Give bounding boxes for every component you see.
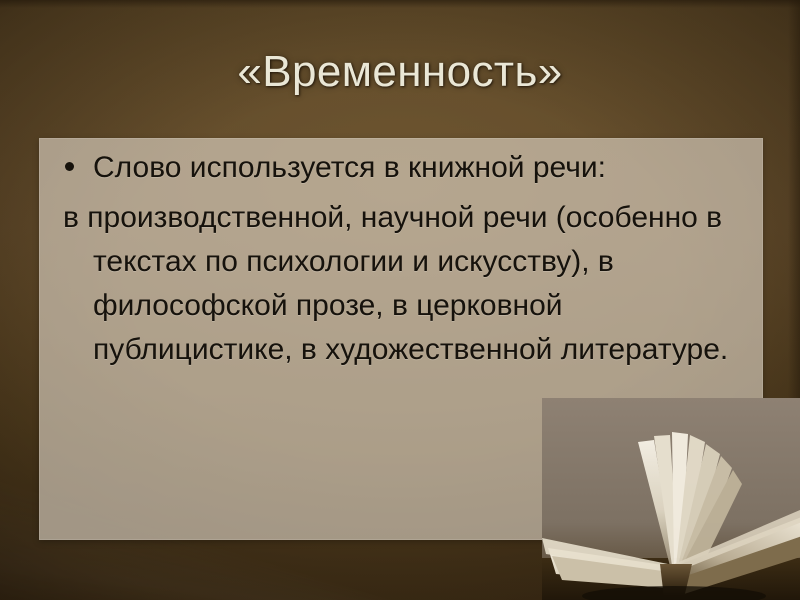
background-top-shade [0,0,800,8]
bullet-point-icon [65,162,74,171]
detail-paragraph-text: в производственной, научной речи (особен… [63,201,728,366]
slide-title: «Временность» [0,44,800,100]
slide-canvas: «Временность» Слово используется в книжн… [0,0,800,600]
open-book-photo [542,398,800,600]
detail-paragraph: в производственной, научной речи (особен… [51,196,749,372]
bullet-paragraph-text: Слово используется в книжной речи: [93,151,606,184]
bullet-paragraph: Слово используется в книжной речи: [51,146,749,190]
